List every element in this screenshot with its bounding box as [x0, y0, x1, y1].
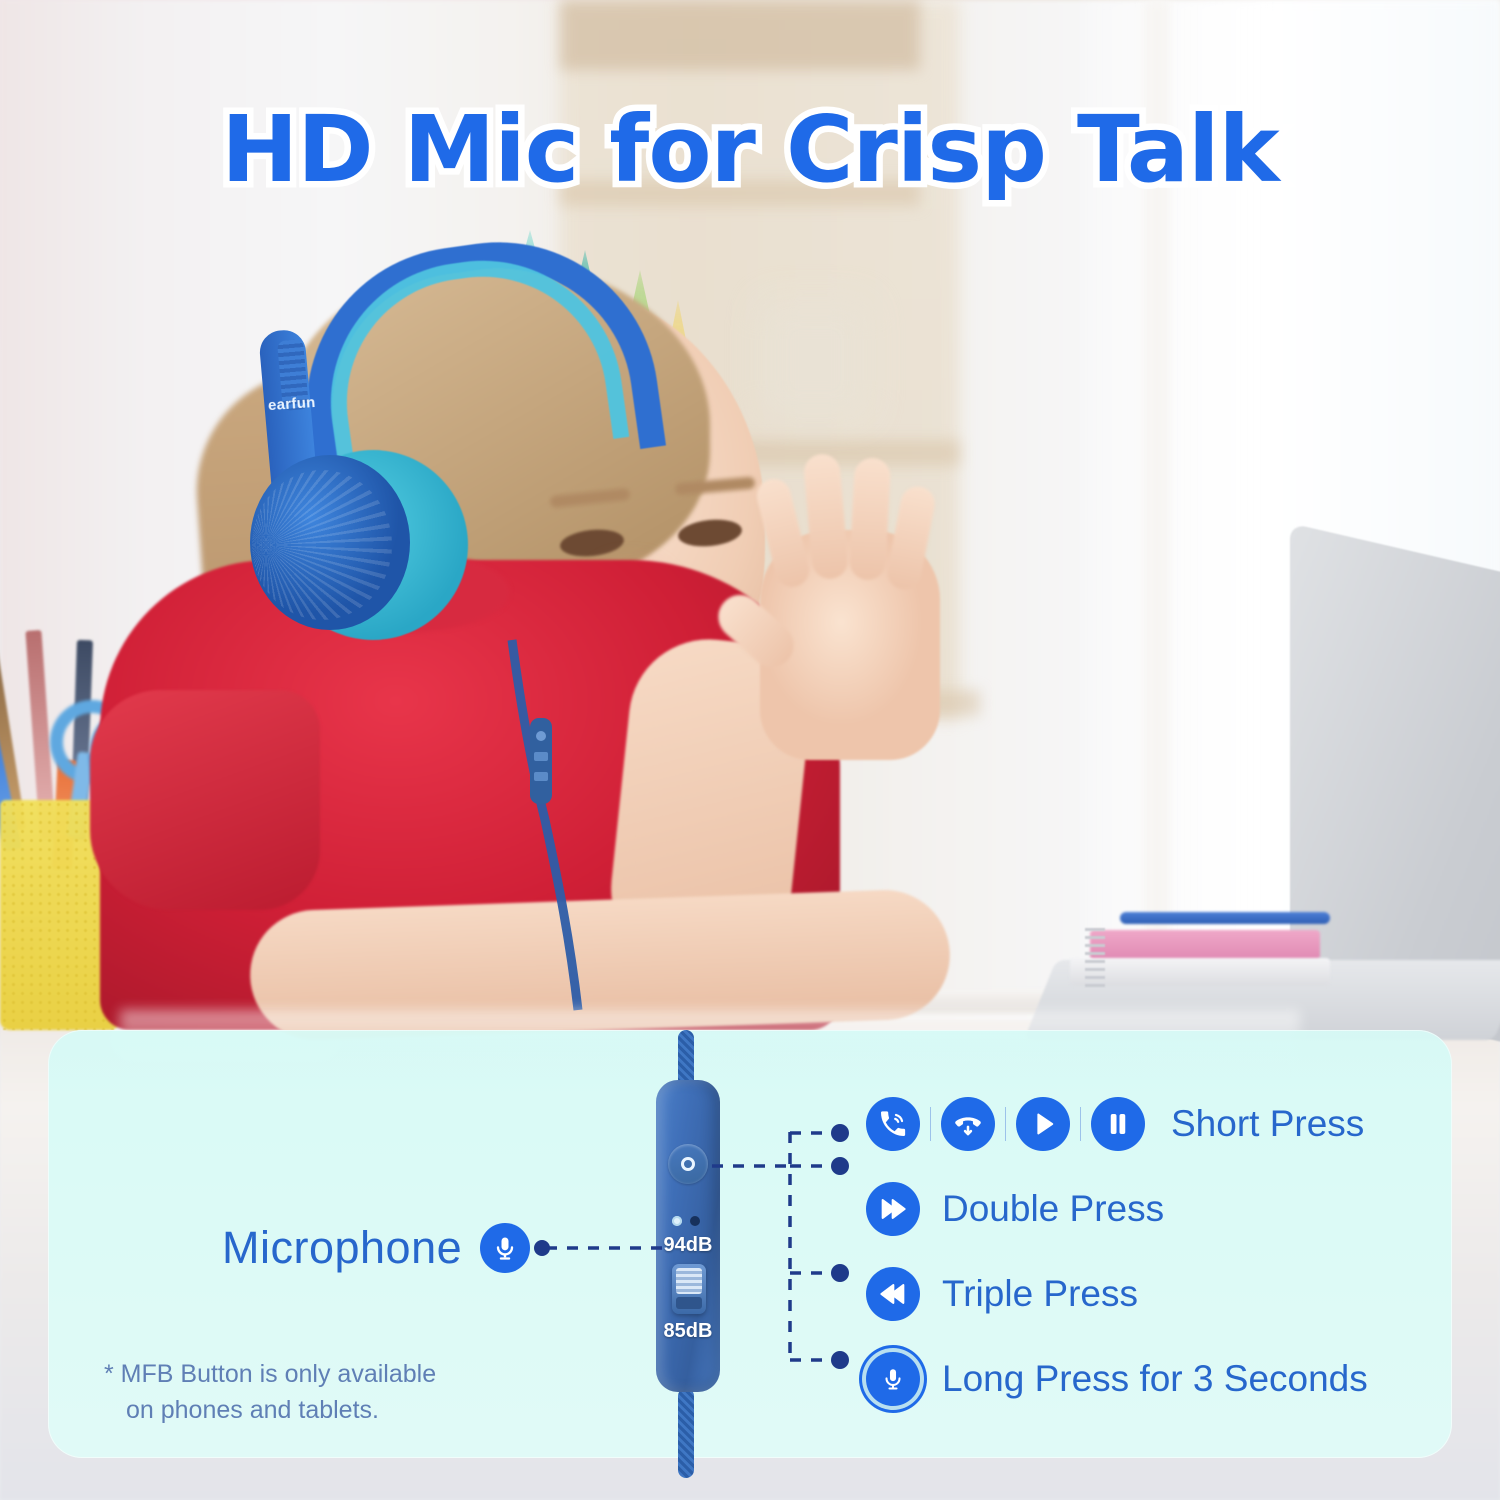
voice-assistant-icon — [866, 1352, 920, 1406]
blue-pen — [1120, 912, 1330, 924]
icon-divider — [1080, 1107, 1081, 1141]
icon-divider — [1005, 1107, 1006, 1141]
feature-row-short-press: Short Press — [866, 1088, 1426, 1160]
footnote: * MFB Button is only available on phones… — [104, 1356, 436, 1429]
footnote-line-2: on phones and tablets. — [104, 1392, 436, 1428]
mfb-button[interactable] — [668, 1144, 708, 1184]
shirt-sleeve — [90, 690, 320, 910]
pause-icon — [1091, 1097, 1145, 1151]
icon-divider — [930, 1107, 931, 1141]
mic-pinhole-icon — [672, 1216, 682, 1226]
microphone-label: Microphone — [222, 1222, 462, 1274]
finger — [849, 457, 891, 581]
feature-row-triple-press: Triple Press — [866, 1258, 1426, 1330]
volume-low-label: 85dB — [656, 1320, 720, 1343]
short-press-icon-group — [866, 1097, 1145, 1151]
next-track-icon — [866, 1182, 920, 1236]
infographic-canvas: HOME — [0, 0, 1500, 1500]
headphone-earcup-texture — [252, 470, 392, 620]
answer-call-icon — [866, 1097, 920, 1151]
feature-label: Double Press — [942, 1188, 1164, 1230]
previous-track-icon — [866, 1267, 920, 1321]
long-press-icon-group — [866, 1352, 920, 1406]
double-press-icon-group — [866, 1182, 920, 1236]
feature-list: Short Press Double Press — [866, 1088, 1426, 1428]
waving-hand — [760, 530, 940, 760]
feature-label: Long Press for 3 Seconds — [942, 1358, 1368, 1400]
triple-press-icon-group — [866, 1267, 920, 1321]
feature-row-double-press: Double Press — [866, 1173, 1426, 1245]
footnote-line-1: * MFB Button is only available — [104, 1356, 436, 1392]
feature-row-long-press: Long Press for 3 Seconds — [866, 1343, 1426, 1415]
microphone-callout: Microphone — [222, 1222, 530, 1274]
mic-pinhole-secondary-icon — [690, 1216, 700, 1226]
page-title: HD Mic for Crisp Talk — [0, 96, 1500, 203]
feature-label: Triple Press — [942, 1273, 1138, 1315]
pink-notebook — [1090, 930, 1320, 960]
inline-remote-control: 94dB 85dB — [648, 1058, 734, 1448]
notebook-spiral — [1085, 928, 1105, 988]
volume-high-label: 94dB — [656, 1234, 720, 1257]
microphone-icon — [480, 1223, 530, 1273]
volume-limit-switch[interactable] — [672, 1264, 706, 1314]
end-call-icon — [941, 1097, 995, 1151]
feature-label: Short Press — [1171, 1103, 1364, 1145]
cable-lower — [678, 1388, 694, 1478]
play-icon — [1016, 1097, 1070, 1151]
shelf-board — [560, 0, 920, 70]
white-notebook — [1070, 958, 1330, 986]
